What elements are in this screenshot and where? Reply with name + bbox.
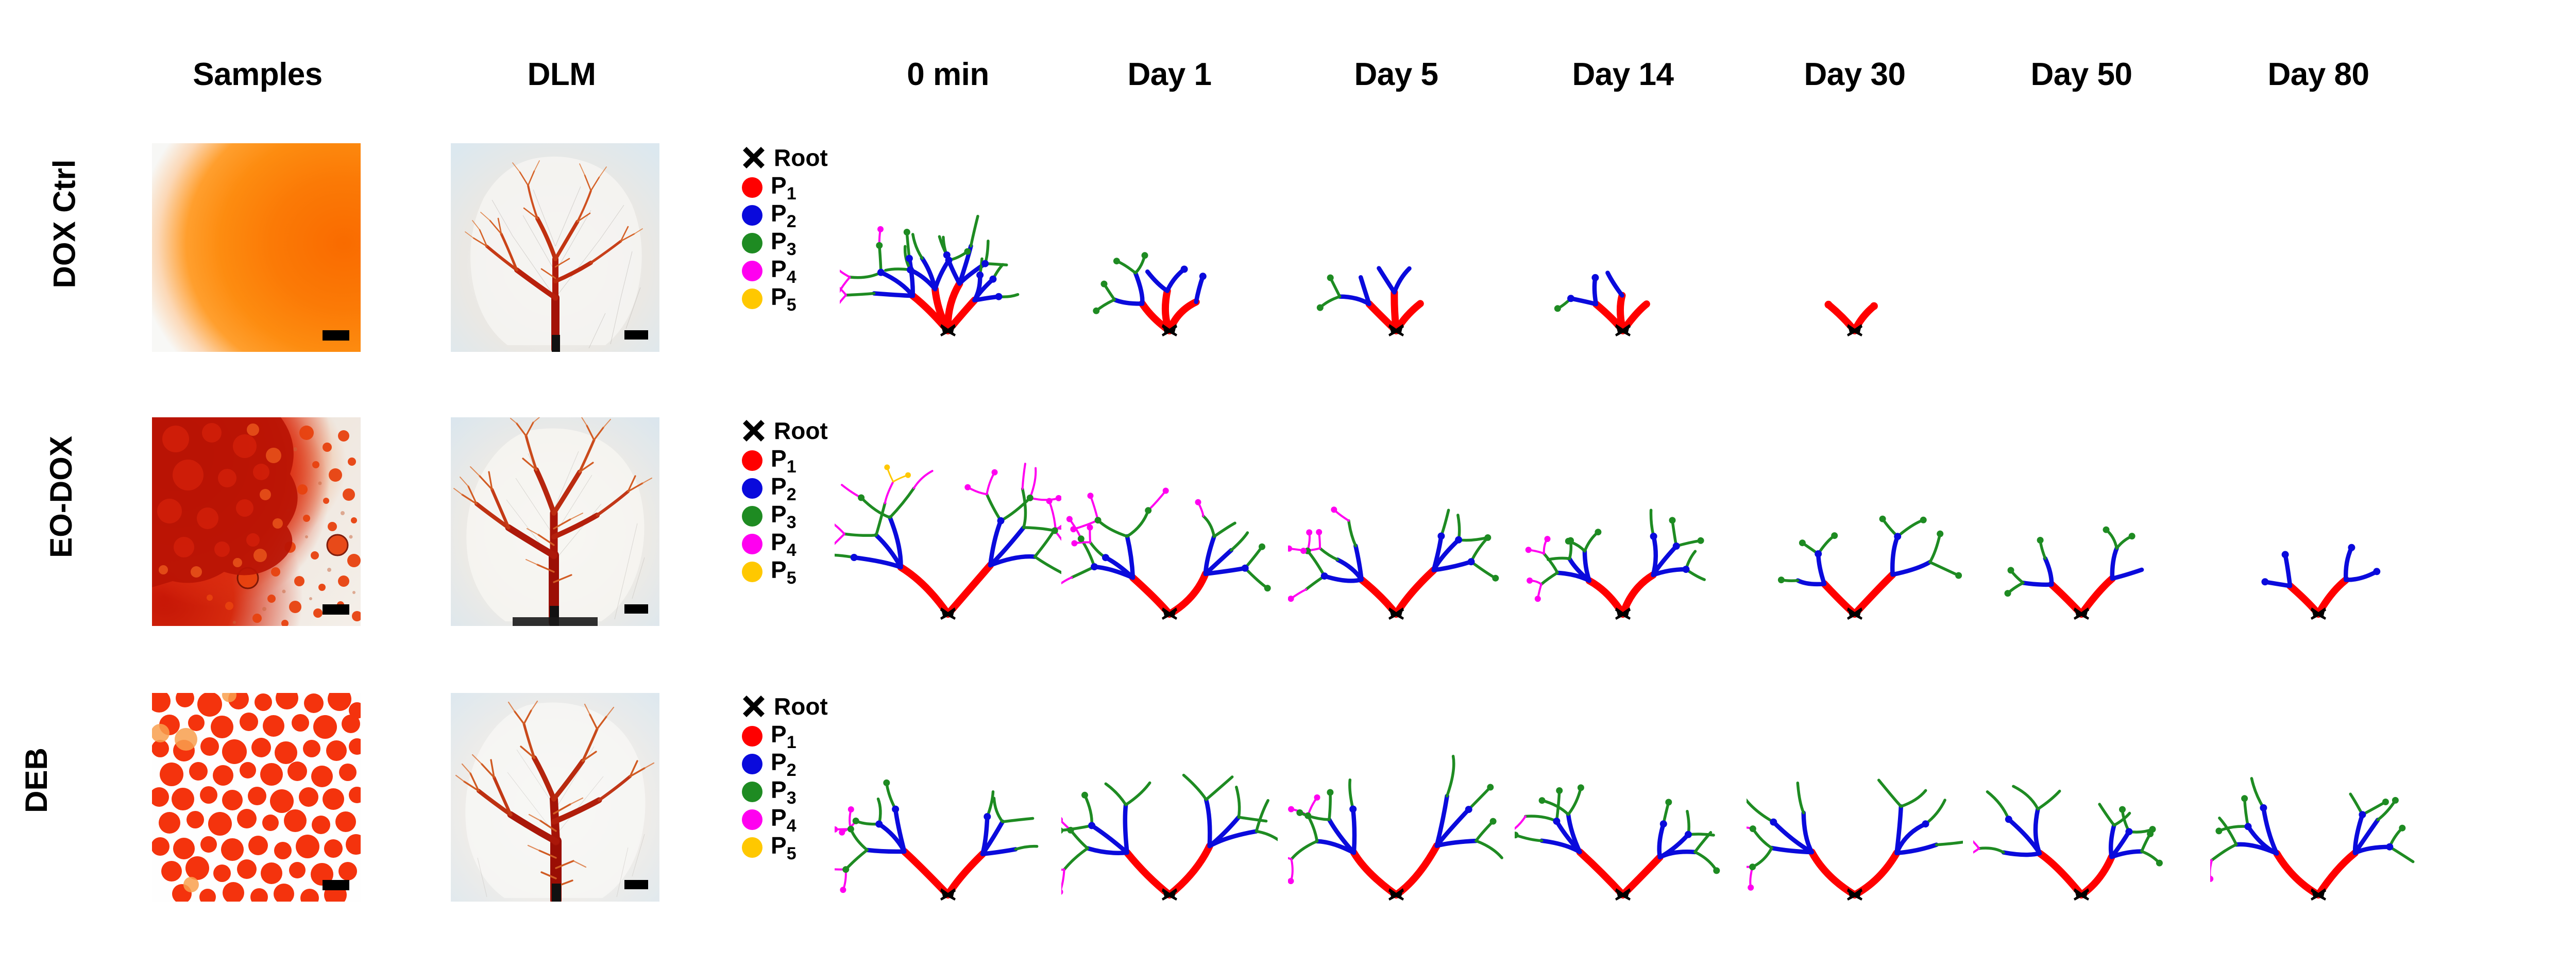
root-x-icon <box>742 694 766 718</box>
root-x-icon <box>742 419 766 443</box>
legend-label-root: Root <box>774 417 828 445</box>
sample-image-dox-ctrl <box>152 143 361 352</box>
legend-label-root: Root <box>774 144 828 172</box>
column-header-day14: Day 14 <box>1515 57 1731 93</box>
tree-dox-day14 <box>1520 170 1726 340</box>
scale-bar <box>323 880 349 890</box>
tree-deb-day1 <box>1061 693 1278 904</box>
legend-item-root: Root <box>742 144 828 171</box>
dlm-image-dox-ctrl <box>451 143 659 352</box>
row-label-eo-dox: EO-DOX <box>0 479 72 515</box>
p3-color-swatch <box>742 233 762 253</box>
scale-bar <box>624 604 648 614</box>
legend-item-p4: P4 <box>742 258 796 284</box>
emulsion-droplets <box>152 417 361 626</box>
scale-bar <box>624 330 648 340</box>
tree-dox-day1 <box>1066 170 1273 340</box>
legend-item-p3: P3 <box>742 230 796 257</box>
row-label-deb: DEB <box>0 762 72 798</box>
tree-eodox-day50 <box>1973 417 2190 623</box>
p2-color-swatch <box>742 205 762 226</box>
scale-bar <box>624 880 648 889</box>
tree-dox-day5 <box>1293 170 1499 340</box>
microspheres <box>152 693 361 902</box>
column-header-day5: Day 5 <box>1288 57 1504 93</box>
dlm-image-eo-dox <box>451 417 659 626</box>
p2-color-swatch <box>742 754 762 774</box>
scale-bar <box>323 604 349 615</box>
p3-color-swatch <box>742 782 762 802</box>
p1-color-swatch <box>742 726 762 747</box>
legend-item-p2: P2 <box>742 475 796 502</box>
scale-bar <box>323 330 349 341</box>
tree-dox-day50 <box>1978 170 2184 340</box>
dlm-vascular-tree-deb <box>451 693 659 902</box>
legend-item-p5: P5 <box>742 834 796 861</box>
tree-dox-day30 <box>1752 170 1958 340</box>
tree-dox-0min <box>840 170 1056 340</box>
column-header-samples: Samples <box>118 57 397 93</box>
legend-item-p5: P5 <box>742 285 796 312</box>
column-header-day50: Day 50 <box>1973 57 2190 93</box>
tree-deb-day14 <box>1515 693 1731 904</box>
legend-item-p1: P1 <box>742 174 796 201</box>
tree-eodox-day14 <box>1515 417 1731 623</box>
legend-item-p3: P3 <box>742 778 796 805</box>
p4-color-swatch <box>742 261 762 281</box>
column-header-dlm: DLM <box>422 57 701 93</box>
sample-image-eo-dox <box>152 417 361 626</box>
figure-root: Samples DLM 0 min Day 1 Day 5 Day 14 Day… <box>0 0 2576 966</box>
legend-deb: Root P1 P2 P3 P4 P5 <box>742 693 835 899</box>
legend-label-p5: P5 <box>771 832 796 864</box>
legend-item-p5: P5 <box>742 558 796 585</box>
tree-deb-day50 <box>1973 693 2190 904</box>
legend-item-root: Root <box>742 693 828 720</box>
p4-color-swatch <box>742 809 762 830</box>
row-label-dox-ctrl: DOX Ctrl <box>0 206 72 242</box>
legend-item-root: Root <box>742 417 828 444</box>
legend-dox-ctrl: Root P1 P2 P3 P4 P5 <box>742 144 835 350</box>
tree-eodox-day1 <box>1061 417 1278 623</box>
p4-color-swatch <box>742 534 762 554</box>
tree-dox-day80 <box>2215 170 2421 340</box>
p2-color-swatch <box>742 478 762 499</box>
column-header-0min: 0 min <box>840 57 1056 93</box>
legend-label-p5: P5 <box>771 283 796 315</box>
p1-color-swatch <box>742 450 762 471</box>
dlm-vascular-tree-eodox <box>451 417 659 626</box>
column-header-day80: Day 80 <box>2210 57 2427 93</box>
dlm-vascular-tree-dox <box>451 143 659 352</box>
p3-color-swatch <box>742 506 762 527</box>
root-x-icon <box>742 146 766 170</box>
tree-deb-0min <box>835 693 1061 904</box>
legend-item-p4: P4 <box>742 806 796 833</box>
legend-item-p1: P1 <box>742 447 796 474</box>
legend-item-p4: P4 <box>742 531 796 557</box>
p1-color-swatch <box>742 177 762 198</box>
p5-color-swatch <box>742 289 762 309</box>
tree-deb-day80 <box>2210 693 2427 904</box>
legend-label-root: Root <box>774 692 828 720</box>
sample-image-deb <box>152 693 361 902</box>
legend-item-p2: P2 <box>742 751 796 777</box>
tree-eodox-day80 <box>2210 417 2427 623</box>
column-header-day30: Day 30 <box>1747 57 1963 93</box>
legend-label-p5: P5 <box>771 556 796 588</box>
legend-eo-dox: Root P1 P2 P3 P4 P5 <box>742 417 835 623</box>
p5-color-swatch <box>742 562 762 582</box>
tree-eodox-0min <box>835 417 1061 623</box>
column-header-day1: Day 1 <box>1061 57 1278 93</box>
tree-eodox-day30 <box>1747 417 1963 623</box>
tree-deb-day30 <box>1747 693 1963 904</box>
p5-color-swatch <box>742 837 762 858</box>
legend-item-p1: P1 <box>742 723 796 750</box>
tree-eodox-day5 <box>1288 417 1504 623</box>
dlm-image-deb <box>451 693 659 902</box>
tree-deb-day5 <box>1288 693 1504 904</box>
legend-item-p2: P2 <box>742 202 796 229</box>
legend-item-p3: P3 <box>742 503 796 530</box>
